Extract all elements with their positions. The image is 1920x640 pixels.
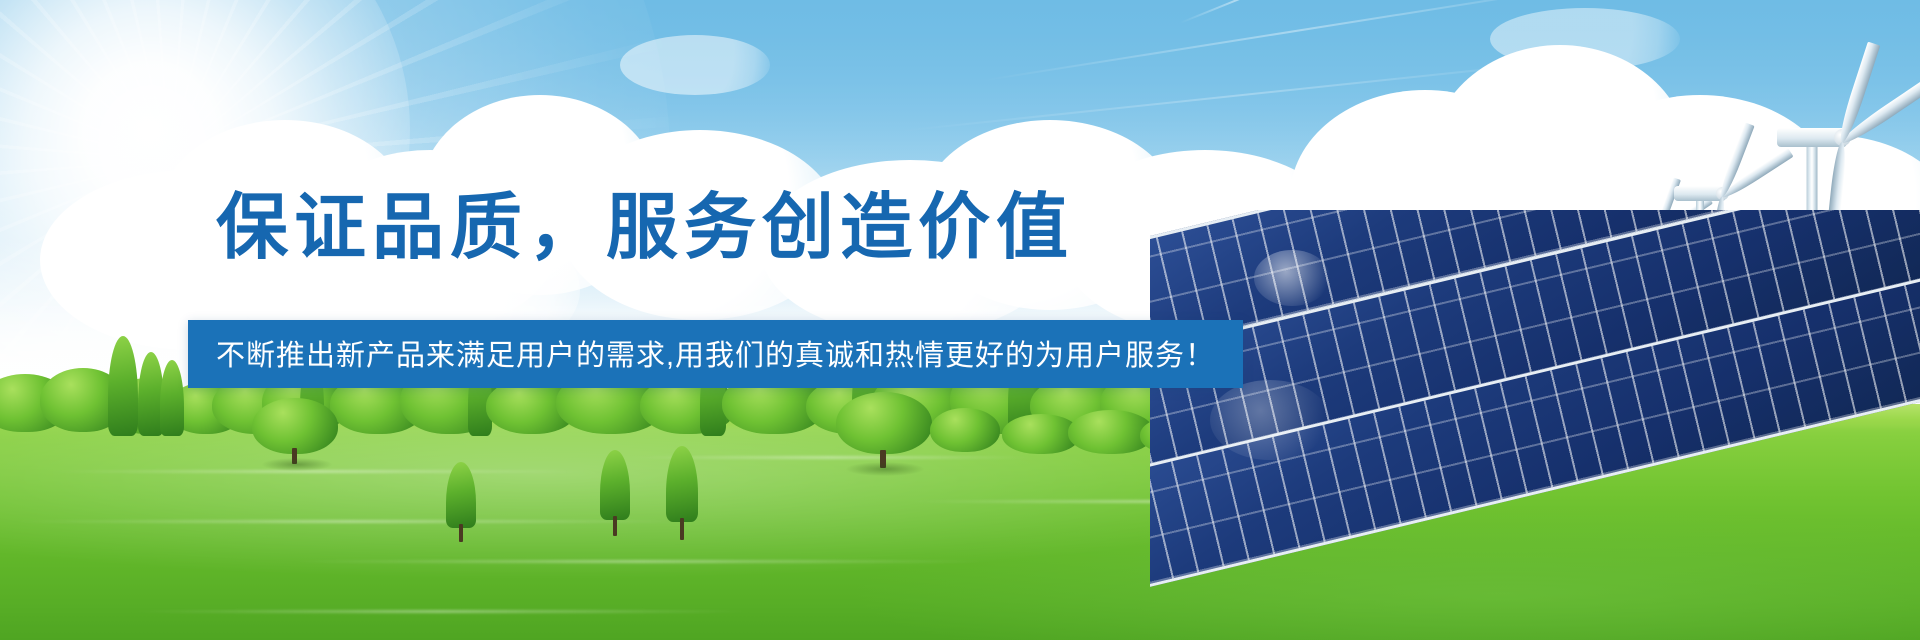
promo-banner: 保证品质，服务创造价值 不断推出新产品来满足用户的需求,用我们的真诚和热情更好的… — [0, 0, 1920, 640]
subtitle-banner: 不断推出新产品来满足用户的需求,用我们的真诚和热情更好的为用户服务！ — [188, 320, 1243, 388]
tree-shadow — [262, 458, 332, 471]
mow-stripe — [280, 560, 1000, 563]
tree-icon — [108, 336, 138, 436]
tree-trunk — [613, 516, 617, 536]
mow-stripe — [120, 610, 760, 613]
mow-stripe — [40, 470, 600, 473]
tree-trunk — [680, 518, 684, 540]
mow-stripe — [0, 520, 700, 523]
tree-icon — [930, 408, 1000, 452]
tree-trunk — [459, 524, 463, 542]
cloud-icon — [1490, 8, 1680, 70]
cloud-icon — [620, 35, 770, 95]
tree-icon — [836, 392, 932, 458]
tree-icon — [160, 360, 184, 436]
solar-panel-array-icon — [1150, 210, 1920, 640]
page-title: 保证品质，服务创造价值 — [0, 168, 1290, 273]
solar-glare-icon — [1210, 380, 1330, 460]
tree-shadow — [846, 462, 924, 476]
